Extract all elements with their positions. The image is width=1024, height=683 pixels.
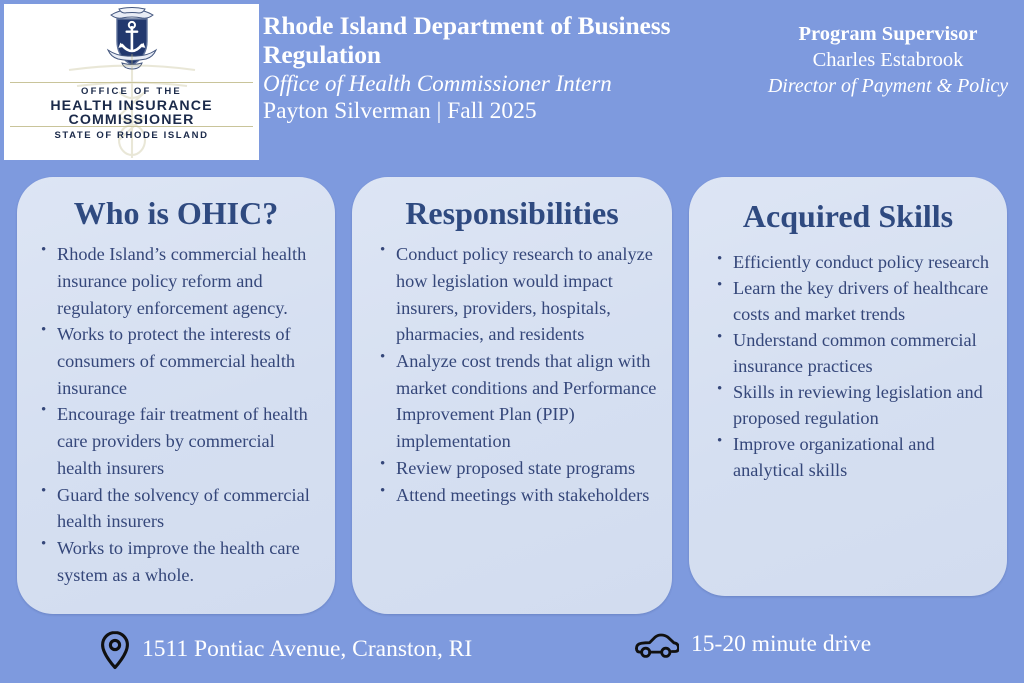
footer: 1511 Pontiac Avenue, Cranston, RI 15-20 … [0, 622, 1024, 683]
bullet-item: Conduct policy research to analyze how l… [378, 241, 660, 348]
logo-line-office: OFFICE OF THE [4, 87, 259, 97]
car-icon [633, 630, 679, 660]
bullet-item: Review proposed state programs [378, 455, 660, 482]
logo-line-state: STATE OF RHODE ISLAND [4, 131, 259, 141]
logo-divider-top [10, 82, 253, 83]
bullet-item: Efficiently conduct policy research [715, 250, 995, 276]
intern-name-term: Payton Silverman | Fall 2025 [263, 98, 749, 126]
card-title: Who is OHIC? [17, 177, 335, 231]
logo-line-commissioner: HEALTH INSURANCE COMMISSIONER [4, 99, 259, 127]
map-pin-icon [100, 630, 130, 670]
footer-location-text: 1511 Pontiac Avenue, Cranston, RI [142, 637, 472, 663]
bullet-item: Works to protect the interests of consum… [39, 321, 323, 401]
supervisor-role: Director of Payment & Policy [760, 74, 1016, 98]
footer-drive: 15-20 minute drive [633, 630, 871, 660]
supervisor-name: Charles Estabrook [760, 48, 1016, 74]
bullet-item: Understand common commercial insurance p… [715, 328, 995, 380]
card-acquired-skills: Acquired Skills Efficiently conduct poli… [689, 177, 1007, 596]
bullet-list: Rhode Island’s commercial health insuran… [39, 241, 323, 588]
bullet-item: Guard the solvency of commercial health … [39, 482, 323, 535]
bullet-item: Rhode Island’s commercial health insuran… [39, 241, 323, 321]
bullet-list: Conduct policy research to analyze how l… [378, 241, 660, 508]
ohic-logo: OFFICE OF THE HEALTH INSURANCE COMMISSIO… [4, 4, 259, 160]
card-title: Acquired Skills [689, 177, 1007, 234]
footer-drive-text: 15-20 minute drive [691, 632, 871, 658]
header: OFFICE OF THE HEALTH INSURANCE COMMISSIO… [0, 0, 1024, 168]
bullet-item: Learn the key drivers of healthcare cost… [715, 276, 995, 328]
header-title-block: Rhode Island Department of Business Regu… [263, 11, 749, 126]
supervisor-label: Program Supervisor [760, 22, 1016, 47]
bullet-item: Skills in reviewing legislation and prop… [715, 380, 995, 432]
bullet-list: Efficiently conduct policy researchLearn… [715, 250, 995, 484]
bullet-item: Attend meetings with stakeholders [378, 482, 660, 509]
organization-title: Rhode Island Department of Business Regu… [263, 11, 749, 69]
bullet-item: Works to improve the health care system … [39, 535, 323, 588]
program-subtitle: Office of Health Commissioner Intern [263, 70, 749, 97]
card-responsibilities: Responsibilities Conduct policy research… [352, 177, 672, 614]
card-who-is-ohic: Who is OHIC? Rhode Island’s commercial h… [17, 177, 335, 614]
footer-location: 1511 Pontiac Avenue, Cranston, RI [100, 630, 472, 670]
bullet-item: Analyze cost trends that align with mark… [378, 348, 660, 455]
card-title: Responsibilities [352, 177, 672, 231]
bullet-item: Improve organizational and analytical sk… [715, 432, 995, 484]
supervisor-block: Program Supervisor Charles Estabrook Dir… [760, 22, 1016, 99]
bullet-item: Encourage fair treatment of health care … [39, 401, 323, 481]
